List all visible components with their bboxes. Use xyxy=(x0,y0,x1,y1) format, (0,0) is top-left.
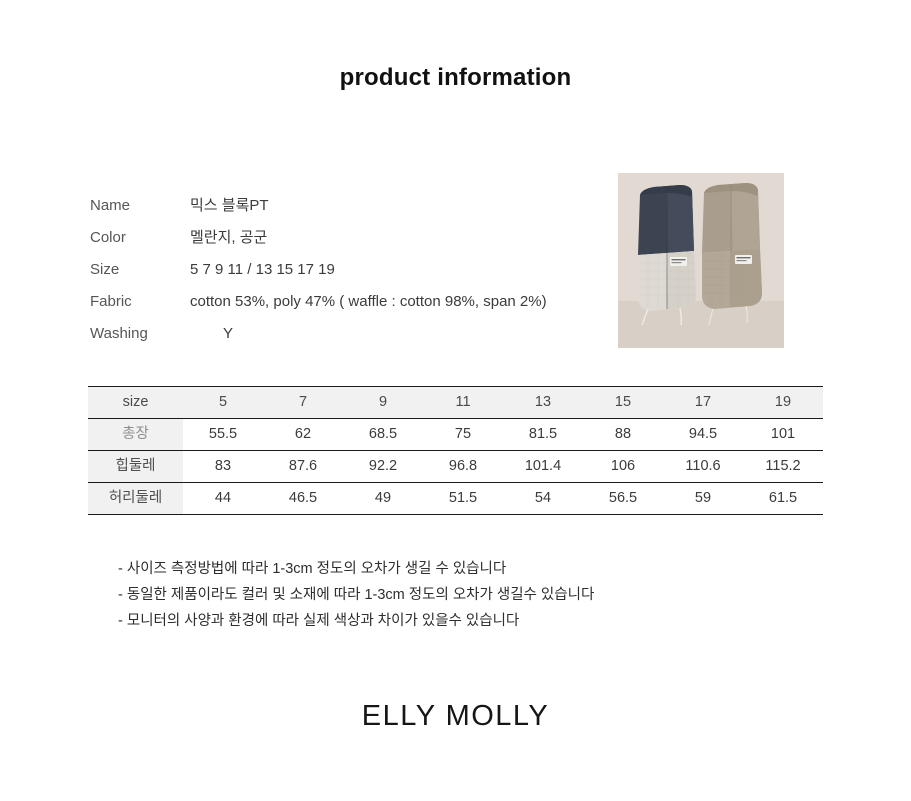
size-chart-body: 총장 55.5 62 68.5 75 81.5 88 94.5 101 힙둘레 … xyxy=(88,419,823,515)
table-cell: 101 xyxy=(743,419,823,451)
size-chart-header: size 5 7 9 11 13 15 17 19 xyxy=(88,387,823,419)
table-cell: 106 xyxy=(583,451,663,483)
table-col-header-19: 19 xyxy=(743,387,823,419)
table-cell: 68.5 xyxy=(343,419,423,451)
table-row-label-waist: 허리둘레 xyxy=(88,483,183,515)
spec-label-color: Color xyxy=(90,228,190,247)
spec-value-washing: Y xyxy=(190,324,233,343)
table-col-header-17: 17 xyxy=(663,387,743,419)
table-cell: 94.5 xyxy=(663,419,743,451)
note-line-material: - 동일한 제품이라도 컬러 및 소재에 따라 1-3cm 정도의 오차가 생길… xyxy=(118,582,818,608)
table-cell: 44 xyxy=(183,483,263,515)
table-col-header-13: 13 xyxy=(503,387,583,419)
table-col-header-15: 15 xyxy=(583,387,663,419)
spec-row-color: Color 멜란지, 공군 xyxy=(90,228,590,260)
table-col-header-9: 9 xyxy=(343,387,423,419)
table-cell: 96.8 xyxy=(423,451,503,483)
table-col-header-5: 5 xyxy=(183,387,263,419)
disclaimer-notes: - 사이즈 측정방법에 따라 1-3cm 정도의 오차가 생길 수 있습니다 -… xyxy=(118,556,818,634)
note-line-monitor: - 모니터의 사양과 환경에 따라 실제 색상과 차이가 있을수 있습니다 xyxy=(118,608,818,634)
spec-row-size: Size 5 7 9 11 / 13 15 17 19 xyxy=(90,260,590,292)
table-cell: 83 xyxy=(183,451,263,483)
spec-row-fabric: Fabric cotton 53%, poly 47% ( waffle : c… xyxy=(90,292,590,324)
table-cell: 54 xyxy=(503,483,583,515)
table-cell: 87.6 xyxy=(263,451,343,483)
table-cell: 115.2 xyxy=(743,451,823,483)
table-cell: 101.4 xyxy=(503,451,583,483)
product-photo xyxy=(618,173,784,348)
size-chart-table: size 5 7 9 11 13 15 17 19 총장 55.5 62 68.… xyxy=(88,386,823,515)
size-chart-table-wrapper: size 5 7 9 11 13 15 17 19 총장 55.5 62 68.… xyxy=(88,386,823,515)
product-photo-illustration xyxy=(618,173,784,348)
note-line-measurement: - 사이즈 측정방법에 따라 1-3cm 정도의 오차가 생길 수 있습니다 xyxy=(118,556,818,582)
spec-value-name: 믹스 블록PT xyxy=(190,196,269,215)
table-cell: 55.5 xyxy=(183,419,263,451)
page-title: product information xyxy=(0,64,911,92)
table-cell: 92.2 xyxy=(343,451,423,483)
table-col-header-11: 11 xyxy=(423,387,503,419)
spec-label-name: Name xyxy=(90,196,190,215)
spec-value-size: 5 7 9 11 / 13 15 17 19 xyxy=(190,260,335,279)
table-row: 허리둘레 44 46.5 49 51.5 54 56.5 59 61.5 xyxy=(88,483,823,515)
table-cell: 59 xyxy=(663,483,743,515)
table-row-label-hip: 힙둘레 xyxy=(88,451,183,483)
table-row: 힙둘레 83 87.6 92.2 96.8 101.4 106 110.6 11… xyxy=(88,451,823,483)
table-cell: 75 xyxy=(423,419,503,451)
spec-label-washing: Washing xyxy=(90,324,190,343)
product-spec-list: Name 믹스 블록PT Color 멜란지, 공군 Size 5 7 9 11… xyxy=(90,196,590,356)
table-row-label-total-length: 총장 xyxy=(88,419,183,451)
table-col-header-7: 7 xyxy=(263,387,343,419)
table-cell: 81.5 xyxy=(503,419,583,451)
table-cell: 62 xyxy=(263,419,343,451)
table-cell: 51.5 xyxy=(423,483,503,515)
spec-row-washing: Washing Y xyxy=(90,324,590,356)
table-cell: 61.5 xyxy=(743,483,823,515)
brand-footer: ELLY MOLLY xyxy=(0,700,911,733)
table-row: 총장 55.5 62 68.5 75 81.5 88 94.5 101 xyxy=(88,419,823,451)
spec-row-name: Name 믹스 블록PT xyxy=(90,196,590,228)
table-corner-label: size xyxy=(88,387,183,419)
spec-value-color: 멜란지, 공군 xyxy=(190,228,267,247)
spec-label-fabric: Fabric xyxy=(90,292,190,311)
table-header-row: size 5 7 9 11 13 15 17 19 xyxy=(88,387,823,419)
table-cell: 88 xyxy=(583,419,663,451)
table-cell: 49 xyxy=(343,483,423,515)
table-cell: 46.5 xyxy=(263,483,343,515)
spec-value-fabric: cotton 53%, poly 47% ( waffle : cotton 9… xyxy=(190,292,547,311)
spec-label-size: Size xyxy=(90,260,190,279)
table-cell: 110.6 xyxy=(663,451,743,483)
table-cell: 56.5 xyxy=(583,483,663,515)
